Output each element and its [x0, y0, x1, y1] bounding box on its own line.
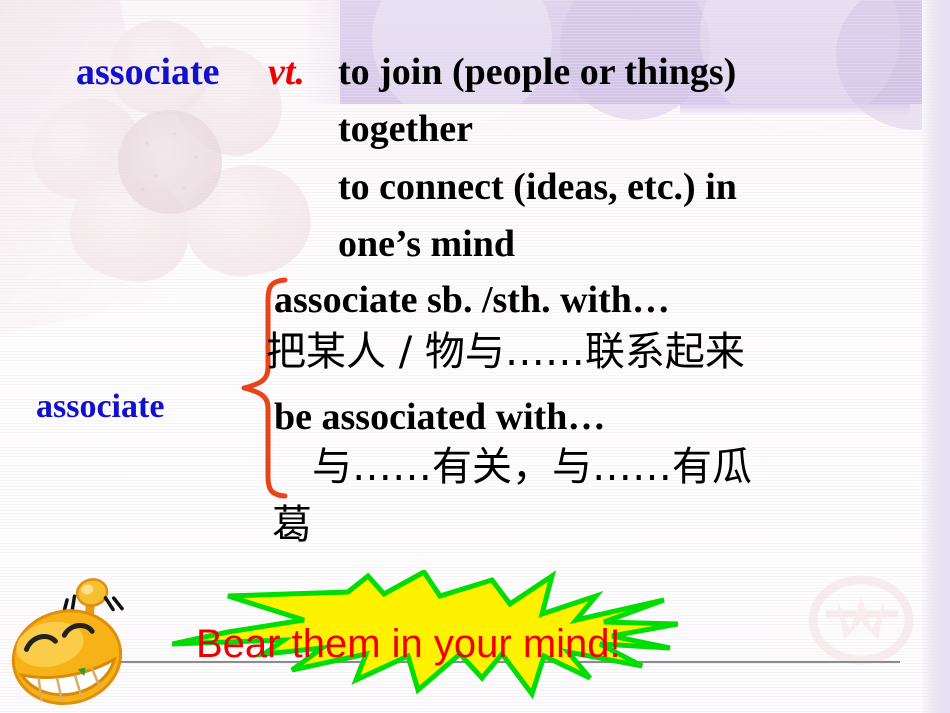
collocation-2-chinese-wrap: 葛 [272, 505, 312, 545]
slide-canvas: associate vt. to join (people or things)… [0, 0, 950, 713]
collocation-2-english: be associated with… [274, 398, 605, 436]
definition-line-4: one’s mind [338, 225, 515, 263]
footer-banner-text: Bear them in your mind! [196, 622, 621, 667]
headword-associate: associate [76, 53, 220, 91]
circular-w-logo-watermark [806, 574, 916, 670]
flower-center [118, 110, 222, 214]
flower-watermark [0, 0, 300, 320]
definition-line-3: to connect (ideas, etc.) in [338, 168, 737, 206]
definition-line-1: to join (people or things) [338, 53, 736, 91]
collocation-1-chinese: 把某人 / 物与……联系起来 [266, 332, 745, 372]
part-of-speech-label: vt. [268, 53, 305, 91]
left-group-label: associate [36, 390, 164, 424]
definition-line-2: together [338, 110, 473, 148]
top-band-step [680, 104, 910, 116]
collocation-1-english: associate sb. /sth. with… [274, 281, 670, 319]
right-lavender-stripe [922, 0, 950, 713]
grinning-face-icon [8, 578, 136, 706]
collocation-2-chinese: 与……有关，与……有瓜 [312, 447, 752, 487]
